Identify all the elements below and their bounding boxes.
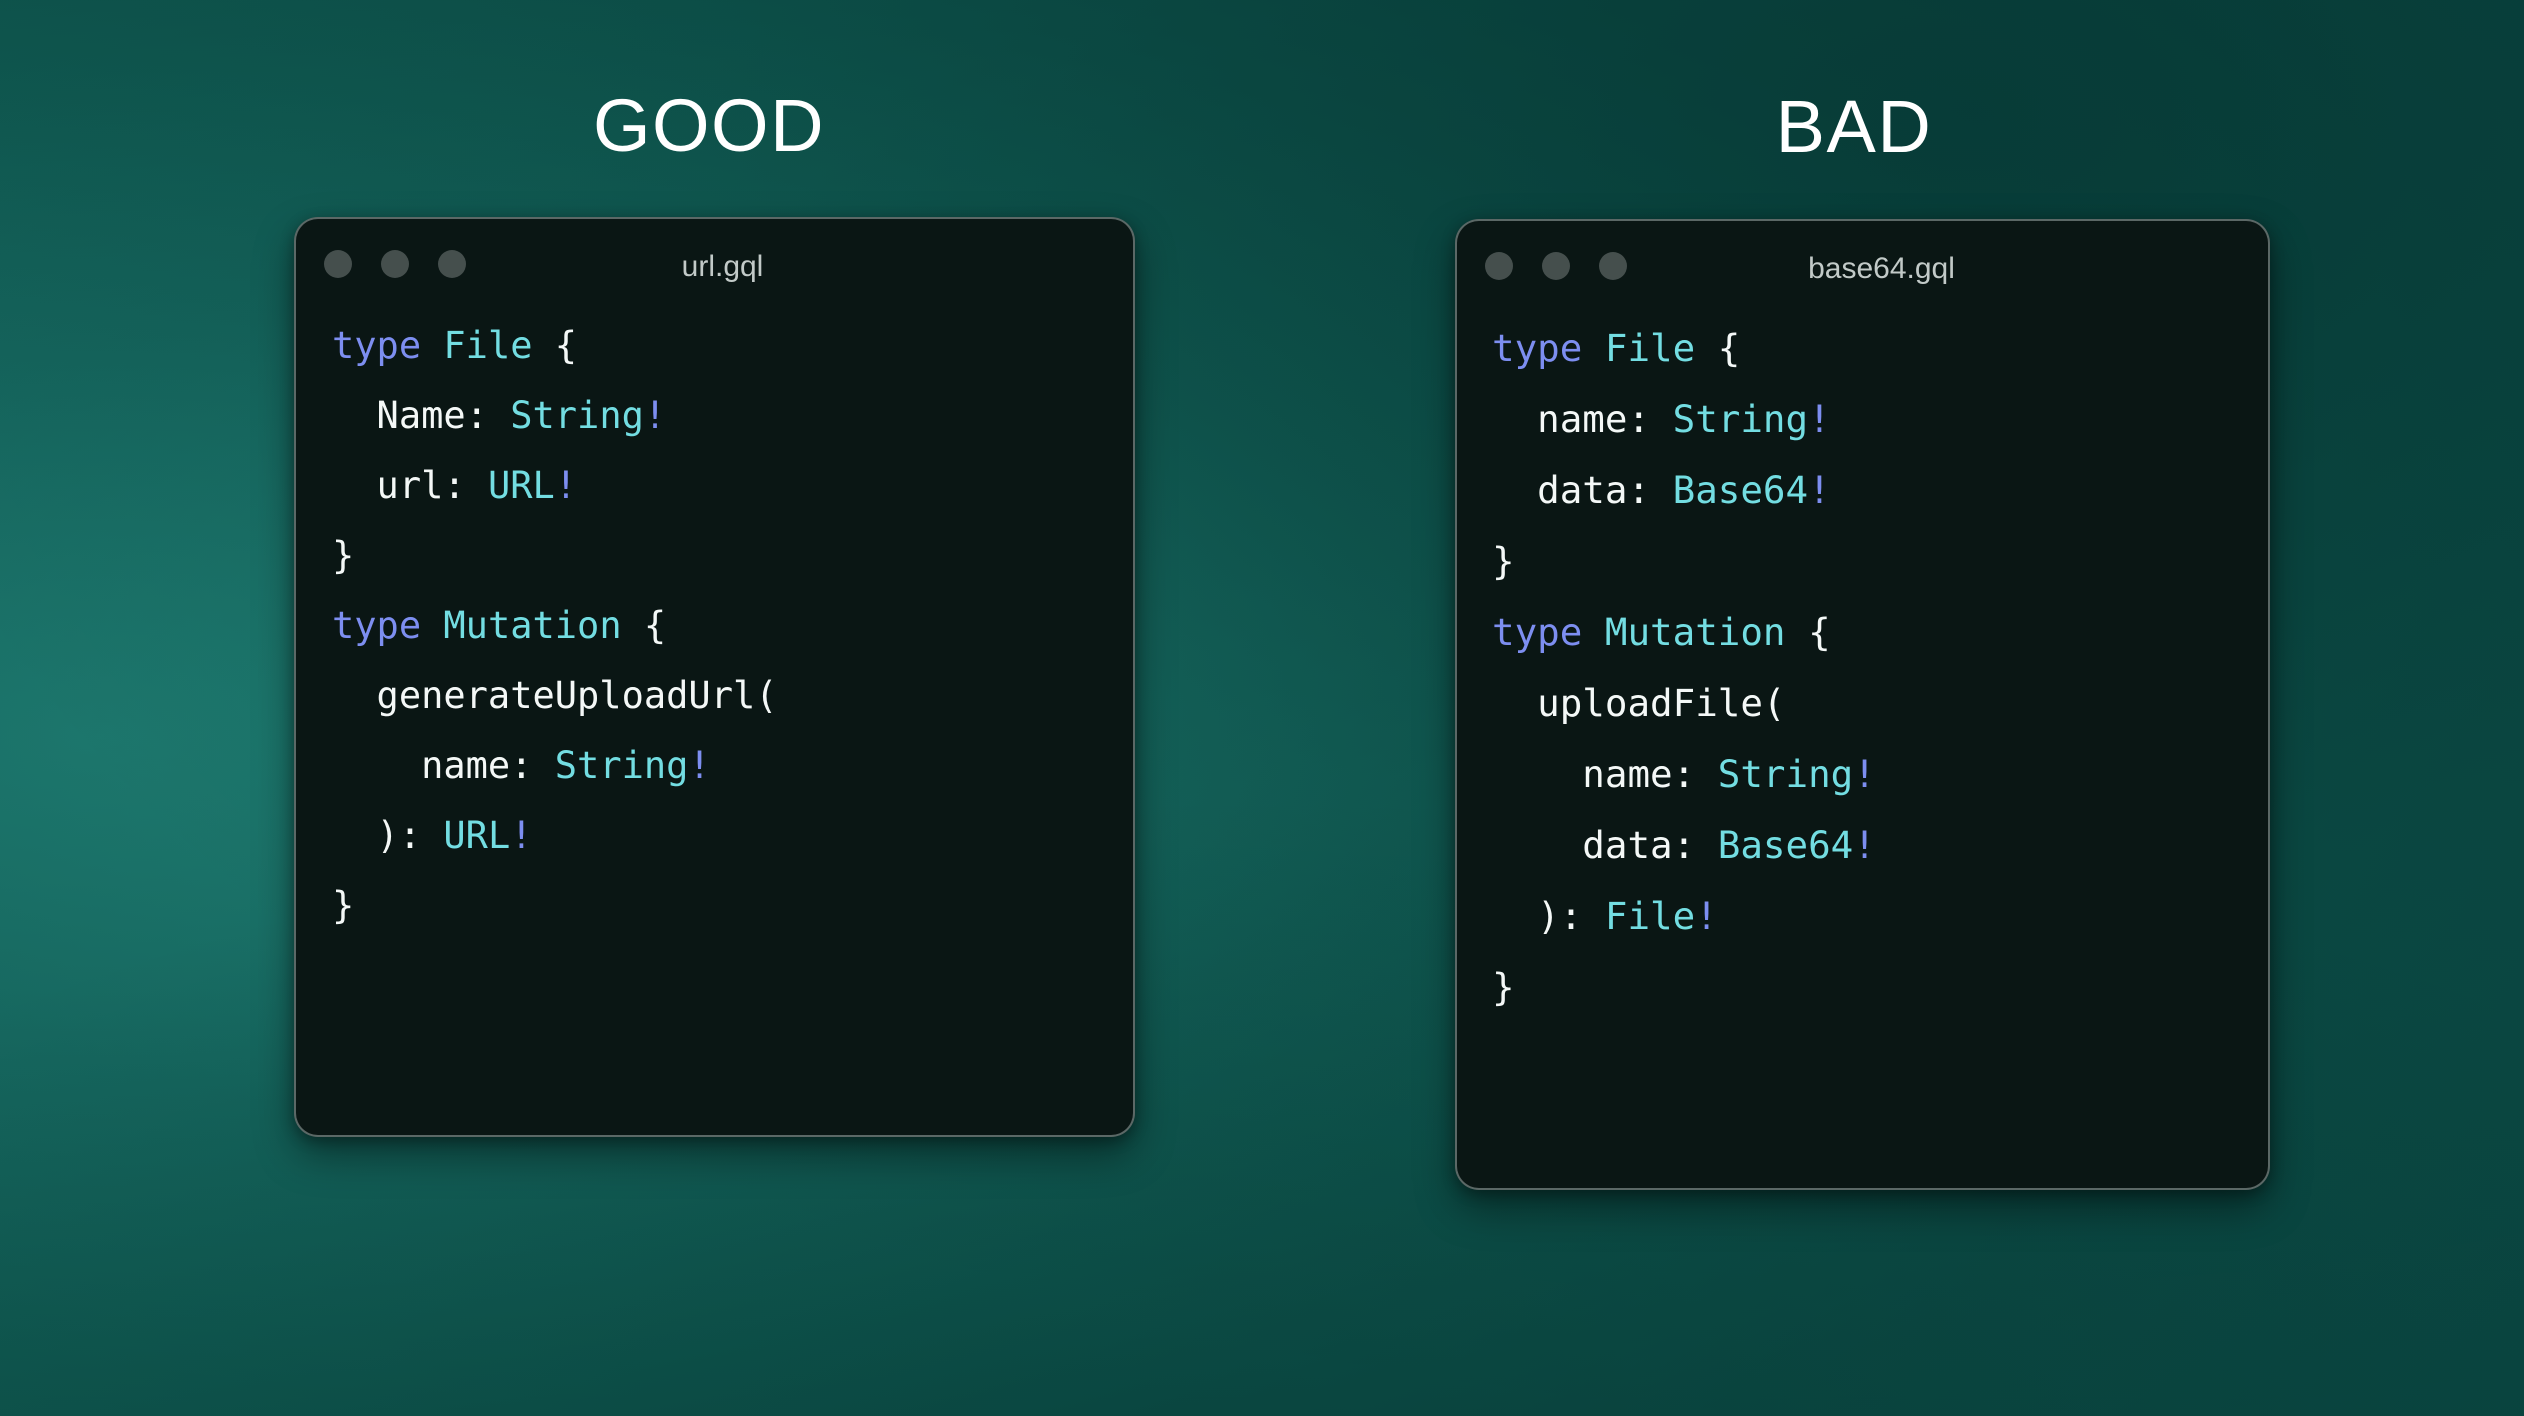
code-line: type File { [1492, 313, 2268, 384]
code-token-type: Base64 [1673, 468, 1808, 512]
code-line: name: String! [1492, 384, 2268, 455]
code-token-bang: ! [1695, 894, 1718, 938]
code-token-bang: ! [1808, 397, 1831, 441]
code-token-type: URL [443, 814, 510, 857]
code-token-punc: { [533, 324, 578, 367]
code-token-kw: type [332, 324, 421, 367]
code-window-good: url.gql type File { Name: String! url: U… [294, 217, 1135, 1137]
code-token-plain [1582, 326, 1605, 370]
code-token-bang: ! [555, 464, 577, 507]
code-token-kw: type [1492, 326, 1582, 370]
code-token-plain: name: [1492, 397, 1673, 441]
good-label: GOOD [593, 89, 825, 163]
code-token-type: File [443, 324, 532, 367]
code-token-type: String [1718, 752, 1853, 796]
code-line: ): URL! [332, 801, 1133, 871]
code-token-plain: ): [332, 814, 443, 857]
code-line: } [1492, 952, 2268, 1023]
bad-label: BAD [1776, 90, 1933, 164]
code-token-kw: type [332, 604, 421, 647]
code-line: data: Base64! [1492, 810, 2268, 881]
code-token-punc: { [1695, 326, 1740, 370]
code-line: type Mutation { [332, 591, 1133, 661]
code-line: uploadFile( [1492, 668, 2268, 739]
code-token-punc: { [1786, 610, 1831, 654]
window-filename: base64.gql [1457, 254, 2268, 284]
code-token-punc: } [332, 534, 354, 577]
code-line: name: String! [1492, 739, 2268, 810]
code-token-type: File [1605, 326, 1695, 370]
code-token-bang: ! [688, 744, 710, 787]
window-titlebar: base64.gql [1457, 221, 2268, 313]
code-token-bang: ! [1853, 823, 1876, 867]
window-filename: url.gql [296, 252, 1133, 282]
comparison-slide: GOOD BAD url.gql type File { Name: Strin… [0, 0, 2524, 1416]
code-token-plain: data: [1492, 468, 1673, 512]
code-block-good: type File { Name: String! url: URL!}type… [296, 311, 1133, 941]
code-token-type: Mutation [443, 604, 621, 647]
code-token-kw: type [1492, 610, 1582, 654]
code-line: generateUploadUrl( [332, 661, 1133, 731]
code-token-bang: ! [510, 814, 532, 857]
code-block-bad: type File { name: String! data: Base64!}… [1457, 313, 2268, 1023]
code-token-plain: data: [1492, 823, 1718, 867]
code-token-plain [1582, 610, 1605, 654]
code-token-plain: name: [1492, 752, 1718, 796]
code-token-bang: ! [1853, 752, 1876, 796]
code-line: type Mutation { [1492, 597, 2268, 668]
code-line: url: URL! [332, 451, 1133, 521]
code-line: Name: String! [332, 381, 1133, 451]
code-token-plain [421, 324, 443, 367]
code-token-type: Mutation [1605, 610, 1786, 654]
code-line: data: Base64! [1492, 455, 2268, 526]
code-token-type: String [1673, 397, 1808, 441]
code-line: } [1492, 526, 2268, 597]
code-token-punc: } [1492, 539, 1515, 583]
code-token-punc: { [622, 604, 667, 647]
code-token-type: File [1605, 894, 1695, 938]
code-token-plain [421, 604, 443, 647]
code-token-plain: url: [332, 464, 488, 507]
code-token-type: String [510, 394, 644, 437]
code-token-punc: } [1492, 965, 1515, 1009]
code-token-plain: ): [1492, 894, 1605, 938]
code-token-bang: ! [1808, 468, 1831, 512]
code-token-type: Base64 [1718, 823, 1853, 867]
code-token-plain: Name: [332, 394, 510, 437]
code-token-type: String [555, 744, 689, 787]
code-token-type: URL [488, 464, 555, 507]
code-line: } [332, 871, 1133, 941]
code-line: type File { [332, 311, 1133, 381]
code-line: name: String! [332, 731, 1133, 801]
code-window-bad: base64.gql type File { name: String! dat… [1455, 219, 2270, 1190]
code-token-plain: generateUploadUrl( [332, 674, 778, 717]
code-token-punc: } [332, 884, 354, 927]
code-line: } [332, 521, 1133, 591]
code-token-plain: uploadFile( [1492, 681, 1786, 725]
code-line: ): File! [1492, 881, 2268, 952]
code-token-plain: name: [332, 744, 555, 787]
code-token-bang: ! [644, 394, 666, 437]
window-titlebar: url.gql [296, 219, 1133, 311]
